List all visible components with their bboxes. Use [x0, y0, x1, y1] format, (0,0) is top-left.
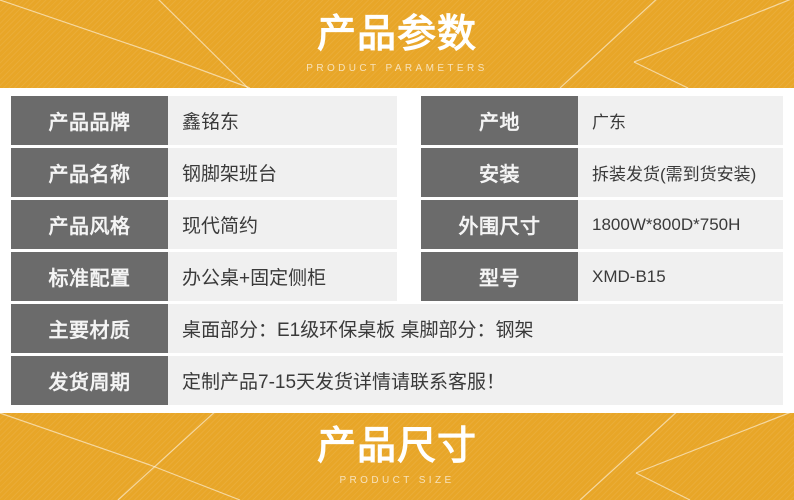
banner-subtitle: PRODUCT SIZE	[339, 474, 454, 488]
spec-label: 产品风格	[11, 200, 168, 249]
column-gap	[397, 200, 421, 249]
spec-value: 钢脚架班台	[168, 148, 397, 197]
table-row: 产品风格 现代简约 外围尺寸 1800W*800D*750H	[11, 200, 783, 249]
spec-value: 1800W*800D*750H	[578, 200, 783, 249]
spec-label: 产地	[421, 96, 578, 145]
spec-value: 拆装发货(需到货安装)	[578, 148, 783, 197]
table-row: 发货周期 定制产品7-15天发货详情请联系客服！	[11, 356, 783, 405]
spec-value: 办公桌+固定侧柜	[168, 252, 397, 301]
product-size-banner: 产品尺寸 PRODUCT SIZE	[0, 413, 794, 500]
table-cell-pair-left: 产品名称 钢脚架班台	[11, 148, 397, 197]
table-cell-pair-right: 安装 拆装发货(需到货安装)	[421, 148, 783, 197]
product-parameters-banner: 产品参数 PRODUCT PARAMETERS	[0, 0, 794, 88]
table-row: 标准配置 办公桌+固定侧柜 型号 XMD-B15	[11, 252, 783, 301]
spec-value: 定制产品7-15天发货详情请联系客服！	[168, 356, 783, 405]
table-row: 主要材质 桌面部分：E1级环保桌板 桌脚部分：钢架	[11, 304, 783, 353]
spec-value: XMD-B15	[578, 252, 783, 301]
spec-label: 主要材质	[11, 304, 168, 353]
spec-value: 广东	[578, 96, 783, 145]
table-row: 产品名称 钢脚架班台 安装 拆装发货(需到货安装)	[11, 148, 783, 197]
table-cell-pair-right: 外围尺寸 1800W*800D*750H	[421, 200, 783, 249]
spec-value: 现代简约	[168, 200, 397, 249]
banner-subtitle: PRODUCT PARAMETERS	[306, 62, 487, 76]
spec-label: 产品名称	[11, 148, 168, 197]
banner-title: 产品参数	[317, 13, 477, 57]
table-cell-pair-left: 标准配置 办公桌+固定侧柜	[11, 252, 397, 301]
spec-label: 外围尺寸	[421, 200, 578, 249]
product-detail-page: 产品参数 PRODUCT PARAMETERS 产品品牌 鑫铭东 产地 广东 产…	[0, 0, 794, 494]
table-cell-pair-right: 产地 广东	[421, 96, 783, 145]
spec-label: 发货周期	[11, 356, 168, 405]
spec-label: 安装	[421, 148, 578, 197]
spec-value: 鑫铭东	[168, 96, 397, 145]
column-gap	[397, 252, 421, 301]
product-parameters-table: 产品品牌 鑫铭东 产地 广东 产品名称 钢脚架班台 安装 拆装发货(需到货安装)	[0, 88, 794, 413]
table-cell-pair-left: 产品品牌 鑫铭东	[11, 96, 397, 145]
table-cell-pair-left: 产品风格 现代简约	[11, 200, 397, 249]
banner-title: 产品尺寸	[317, 425, 477, 469]
spec-label: 产品品牌	[11, 96, 168, 145]
spec-value: 桌面部分：E1级环保桌板 桌脚部分：钢架	[168, 304, 783, 353]
spec-label: 标准配置	[11, 252, 168, 301]
spec-label: 型号	[421, 252, 578, 301]
table-cell-pair-right: 型号 XMD-B15	[421, 252, 783, 301]
column-gap	[397, 96, 421, 145]
column-gap	[397, 148, 421, 197]
table-row: 产品品牌 鑫铭东 产地 广东	[11, 96, 783, 145]
